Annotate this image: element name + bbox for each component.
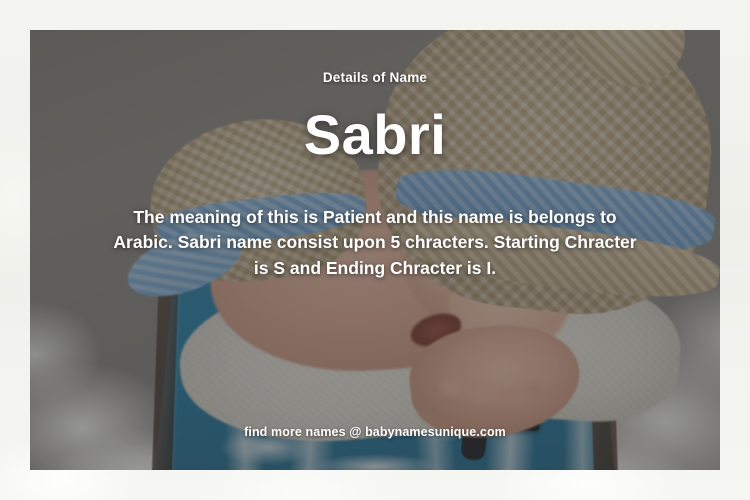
page-title: Sabri [304,107,447,163]
card-content: Details of Name Sabri The meaning of thi… [30,30,720,470]
card-subtitle: Details of Name [323,70,427,85]
name-card: Details of Name Sabri The meaning of thi… [0,0,750,500]
name-description: The meaning of this is Patient and this … [105,205,645,281]
footer-attribution: find more names @ babynamesunique.com [30,425,720,439]
baby-photo: Details of Name Sabri The meaning of thi… [30,30,720,470]
